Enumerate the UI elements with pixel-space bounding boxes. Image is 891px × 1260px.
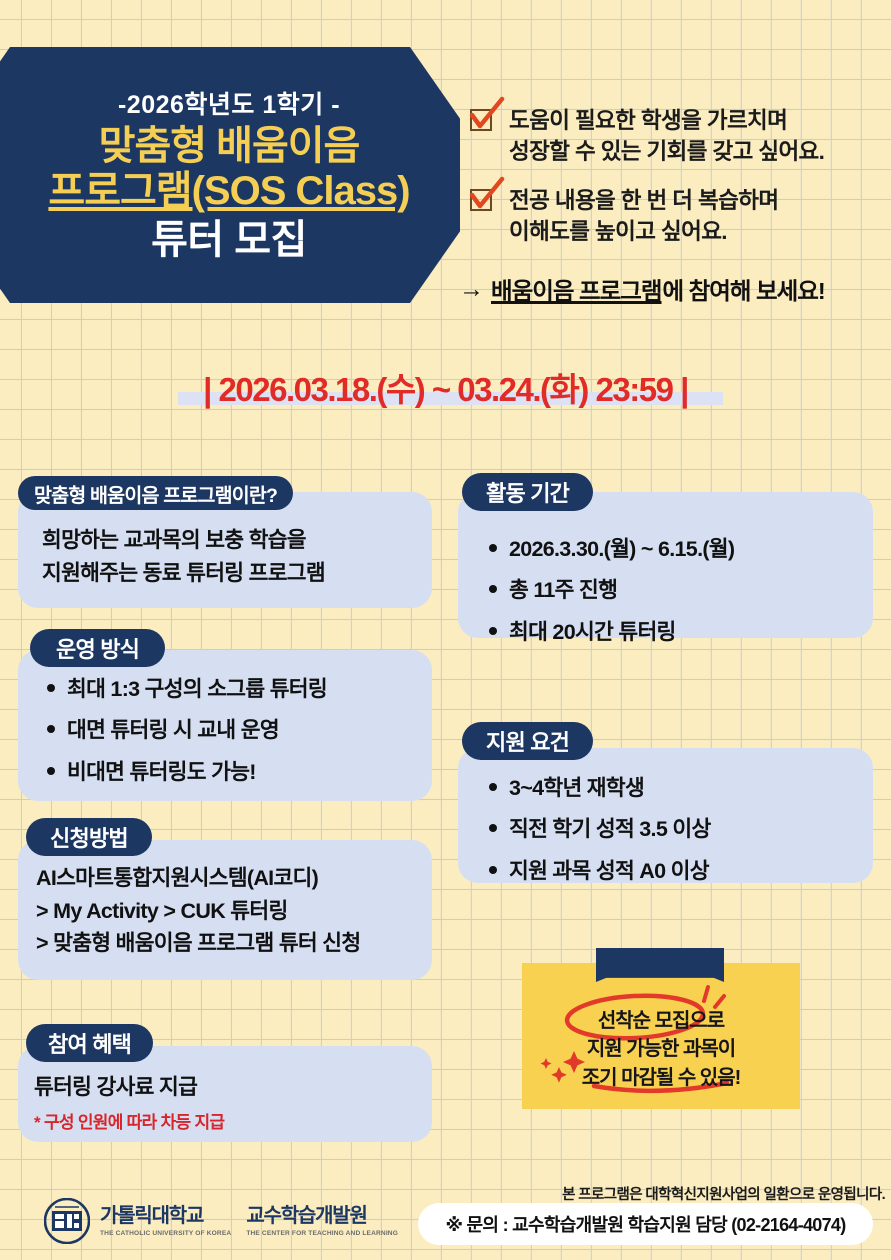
footer-contact-pill: ※ 문의 : 교수학습개발원 학습지원 담당 (02-2164-4074) bbox=[418, 1203, 873, 1245]
university-logo: 가톨릭대학교 THE CATHOLIC UNIVERSITY OF KOREA … bbox=[44, 1198, 398, 1244]
sticky-line3: 조기 마감될 수 있음! bbox=[522, 1064, 800, 1092]
list-item: 지원 과목 성적 A0 이상 bbox=[484, 855, 864, 887]
arrow-right-icon: → bbox=[459, 277, 484, 302]
footer-program-note: 본 프로그램은 대학혁신지원사업의 일환으로 운영됩니다. bbox=[505, 1183, 885, 1204]
list-item: 2026.3.30.(월) ~ 6.15.(월) bbox=[484, 533, 864, 565]
list-item: 3~4학년 재학생 bbox=[484, 772, 864, 804]
card-benefit-title-text: 참여 혜택 bbox=[48, 1027, 131, 1059]
card-requirements-title: 지원 요건 bbox=[462, 722, 593, 760]
logo-university-en: THE CATHOLIC UNIVERSITY OF KOREA bbox=[100, 1230, 231, 1237]
list-item: 대면 튜터링 시 교내 운영 bbox=[42, 714, 422, 746]
footer-contact-text: ※ 문의 : 교수학습개발원 학습지원 담당 (02-2164-4074) bbox=[445, 1211, 845, 1237]
logo-center-ko: 교수학습개발원 bbox=[246, 1206, 398, 1227]
card-about-title: 맞춤형 배움이음 프로그램이란? bbox=[18, 476, 293, 510]
checklist-item-text: 도움이 필요한 학생을 가르치며 성장할 수 있는 기회를 갖고 싶어요. bbox=[509, 105, 824, 167]
card-method-bullets: 최대 1:3 구성의 소그룹 튜터링 대면 튜터링 시 교내 운영 비대면 튜터… bbox=[42, 673, 422, 797]
university-seal-icon bbox=[44, 1198, 90, 1244]
checklist-item: 도움이 필요한 학생을 가르치며 성장할 수 있는 기회를 갖고 싶어요. bbox=[470, 105, 890, 167]
cta-rest-text: 에 참여해 보세요! bbox=[663, 272, 825, 306]
sticky-circled-text: 선착순 모집 bbox=[598, 1010, 690, 1032]
card-about-title-text: 맞춤형 배움이음 프로그램이란? bbox=[34, 479, 277, 508]
date-banner-text: | 2026.03.18.(수) ~ 03.24.(화) 23:59 | bbox=[203, 363, 688, 411]
checklist-item: 전공 내용을 한 번 더 복습하며 이해도를 높이고 싶어요. bbox=[470, 185, 890, 247]
header-pre-title: -2026학년도 1학기 - bbox=[118, 85, 340, 121]
sticky-rest-text: 으로 bbox=[689, 1010, 724, 1032]
card-apply-title: 신청방법 bbox=[26, 818, 152, 856]
checklist-item-text: 전공 내용을 한 번 더 복습하며 이해도를 높이고 싶어요. bbox=[509, 185, 778, 247]
list-item: 비대면 튜터링도 가능! bbox=[42, 756, 422, 788]
checkbox-checked-icon bbox=[470, 189, 496, 215]
application-period-banner: | 2026.03.18.(수) ~ 03.24.(화) 23:59 | bbox=[0, 358, 891, 416]
card-about-body: 희망하는 교과목의 보충 학습을 지원해주는 동료 튜터링 프로그램 bbox=[42, 524, 422, 589]
header-title-line2: 프로그램(SOS Class) bbox=[48, 169, 409, 214]
card-period-bullets: 2026.3.30.(월) ~ 6.15.(월) 총 11주 진행 최대 20시… bbox=[484, 533, 864, 657]
poster-canvas: -2026학년도 1학기 - 맞춤형 배움이음 프로그램(SOS Class) … bbox=[0, 0, 891, 1260]
list-item: 총 11주 진행 bbox=[484, 574, 864, 606]
card-method-title-text: 운영 방식 bbox=[56, 632, 139, 664]
card-requirements-bullets: 3~4학년 재학생 직전 학기 성적 3.5 이상 지원 과목 성적 A0 이상 bbox=[484, 772, 864, 896]
sticky-line2: 지원 가능한 과목이 bbox=[522, 1035, 800, 1063]
card-period-title-text: 활동 기간 bbox=[486, 476, 569, 508]
card-requirements-title-text: 지원 요건 bbox=[486, 725, 569, 757]
list-item: 최대 1:3 구성의 소그룹 튜터링 bbox=[42, 673, 422, 705]
benefit-note: * 구성 인원에 따라 차등 지급 bbox=[34, 1108, 426, 1133]
sticky-note-text: 선착순 모집으로 지원 가능한 과목이 조기 마감될 수 있음! bbox=[522, 963, 800, 1092]
logo-university-block: 가톨릭대학교 THE CATHOLIC UNIVERSITY OF KOREA bbox=[100, 1206, 231, 1237]
card-method-title: 운영 방식 bbox=[30, 629, 165, 667]
logo-wordmark: 가톨릭대학교 THE CATHOLIC UNIVERSITY OF KOREA … bbox=[100, 1206, 398, 1237]
card-period-title: 활동 기간 bbox=[462, 473, 593, 511]
sticky-note-tape bbox=[596, 948, 724, 982]
logo-center-block: 교수학습개발원 THE CENTER FOR TEACHING AND LEAR… bbox=[246, 1206, 398, 1237]
sticky-note-warning: 선착순 모집으로 지원 가능한 과목이 조기 마감될 수 있음! bbox=[522, 963, 800, 1109]
list-item: 최대 20시간 튜터링 bbox=[484, 616, 864, 648]
cta-underlined-text: 배움이음 프로그램 bbox=[491, 272, 662, 306]
card-apply-title-text: 신청방법 bbox=[50, 821, 128, 853]
card-benefit-title: 참여 혜택 bbox=[26, 1024, 153, 1062]
motivation-checklist: 도움이 필요한 학생을 가르치며 성장할 수 있는 기회를 갖고 싶어요. 전공… bbox=[470, 105, 890, 265]
benefit-main-line: 튜터링 강사료 지급 bbox=[34, 1071, 426, 1104]
card-benefit-body: 튜터링 강사료 지급 * 구성 인원에 따라 차등 지급 bbox=[34, 1071, 426, 1133]
card-apply-body: AI스마트통합지원시스템(AI코디) > My Activity > CUK 튜… bbox=[36, 862, 428, 960]
header-hexagon-badge: -2026학년도 1학기 - 맞춤형 배움이음 프로그램(SOS Class) … bbox=[0, 47, 460, 303]
logo-center-en: THE CENTER FOR TEACHING AND LEARNING bbox=[246, 1230, 398, 1237]
call-to-action-line: → 배움이음 프로그램 에 참여해 보세요! bbox=[459, 272, 891, 306]
header-title-line1: 맞춤형 배움이음 bbox=[99, 124, 360, 169]
checkbox-checked-icon bbox=[470, 109, 496, 135]
list-item: 직전 학기 성적 3.5 이상 bbox=[484, 813, 864, 845]
header-title-line3: 튜터 모집 bbox=[151, 215, 307, 265]
logo-university-ko: 가톨릭대학교 bbox=[100, 1206, 231, 1227]
